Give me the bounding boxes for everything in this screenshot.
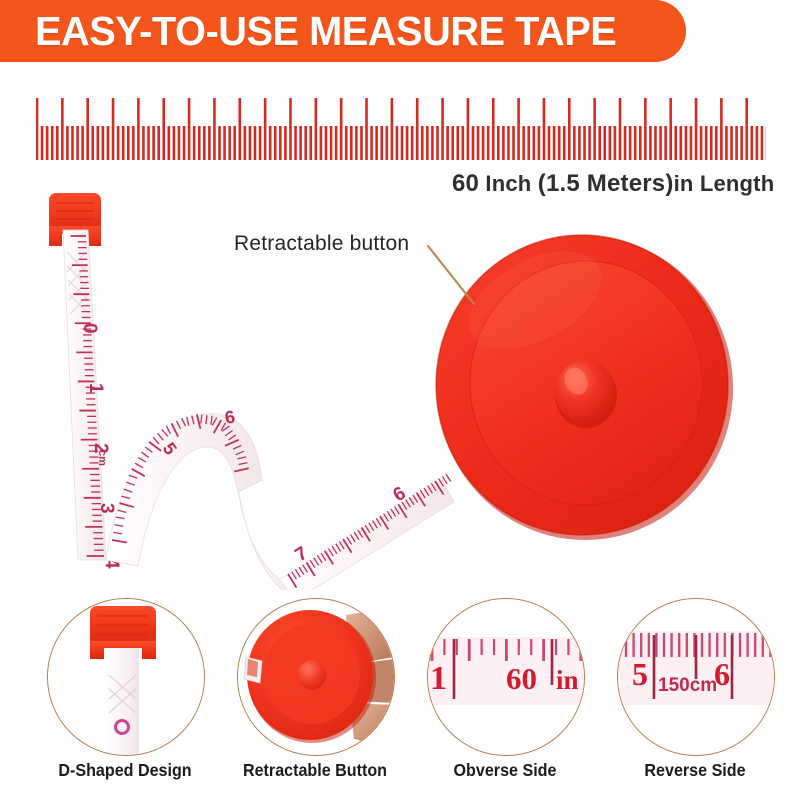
thumbnail-caption: Obverse Side	[418, 760, 593, 781]
product-infographic: EASY-TO-USE MEASURE TAPE 60 Inch (1.5 Me…	[0, 0, 800, 800]
tape-unit: cm	[96, 450, 108, 466]
page-title: EASY-TO-USE MEASURE TAPE	[35, 6, 636, 56]
retractable-button-dome	[298, 660, 326, 690]
thumbnail-retractable-button[interactable]: Retractable Button	[220, 596, 410, 800]
thumbnail-caption: Retractable Button	[228, 760, 403, 781]
header-banner: EASY-TO-USE MEASURE TAPE	[0, 0, 686, 62]
ruler-graphic	[36, 96, 766, 162]
thumbnail-reverse-side[interactable]: 5 6 150cm Reverse Side	[600, 596, 790, 800]
thumbnail-circle	[237, 598, 395, 756]
tape-number: 60	[506, 661, 537, 696]
tape-number: 6	[223, 407, 236, 428]
tape-number: 1	[430, 660, 447, 697]
thumbnail-circle	[47, 598, 205, 756]
thumbnail-caption: D-Shaped Design	[38, 760, 213, 781]
thumbnail-caption: Reverse Side	[608, 760, 783, 781]
thumbnail-obverse-side[interactable]: 1 60 in Obverse Side	[410, 596, 600, 800]
callout-leader-line	[428, 246, 474, 304]
tape-number: 5	[632, 656, 648, 692]
thumbnail-d-shaped-design[interactable]: D-Shaped Design	[30, 596, 220, 800]
tape-unit: in	[556, 665, 579, 695]
callout-retractable-button-label: Retractable button	[234, 232, 409, 256]
measuring-tape-strip: 0 1 2 3 4 cm 5 6	[63, 230, 454, 590]
tape-number: 0	[79, 323, 100, 334]
thumbnail-circle: 1 60 in	[427, 598, 585, 756]
feature-thumbnails: D-Shaped Design	[0, 596, 800, 800]
ruler-ticks	[36, 96, 766, 162]
tape-number: 1	[85, 383, 106, 394]
tape-number: 3	[96, 503, 117, 514]
thumbnail-circle: 5 6 150cm	[617, 598, 775, 756]
tape-unit: 150cm	[658, 675, 717, 696]
